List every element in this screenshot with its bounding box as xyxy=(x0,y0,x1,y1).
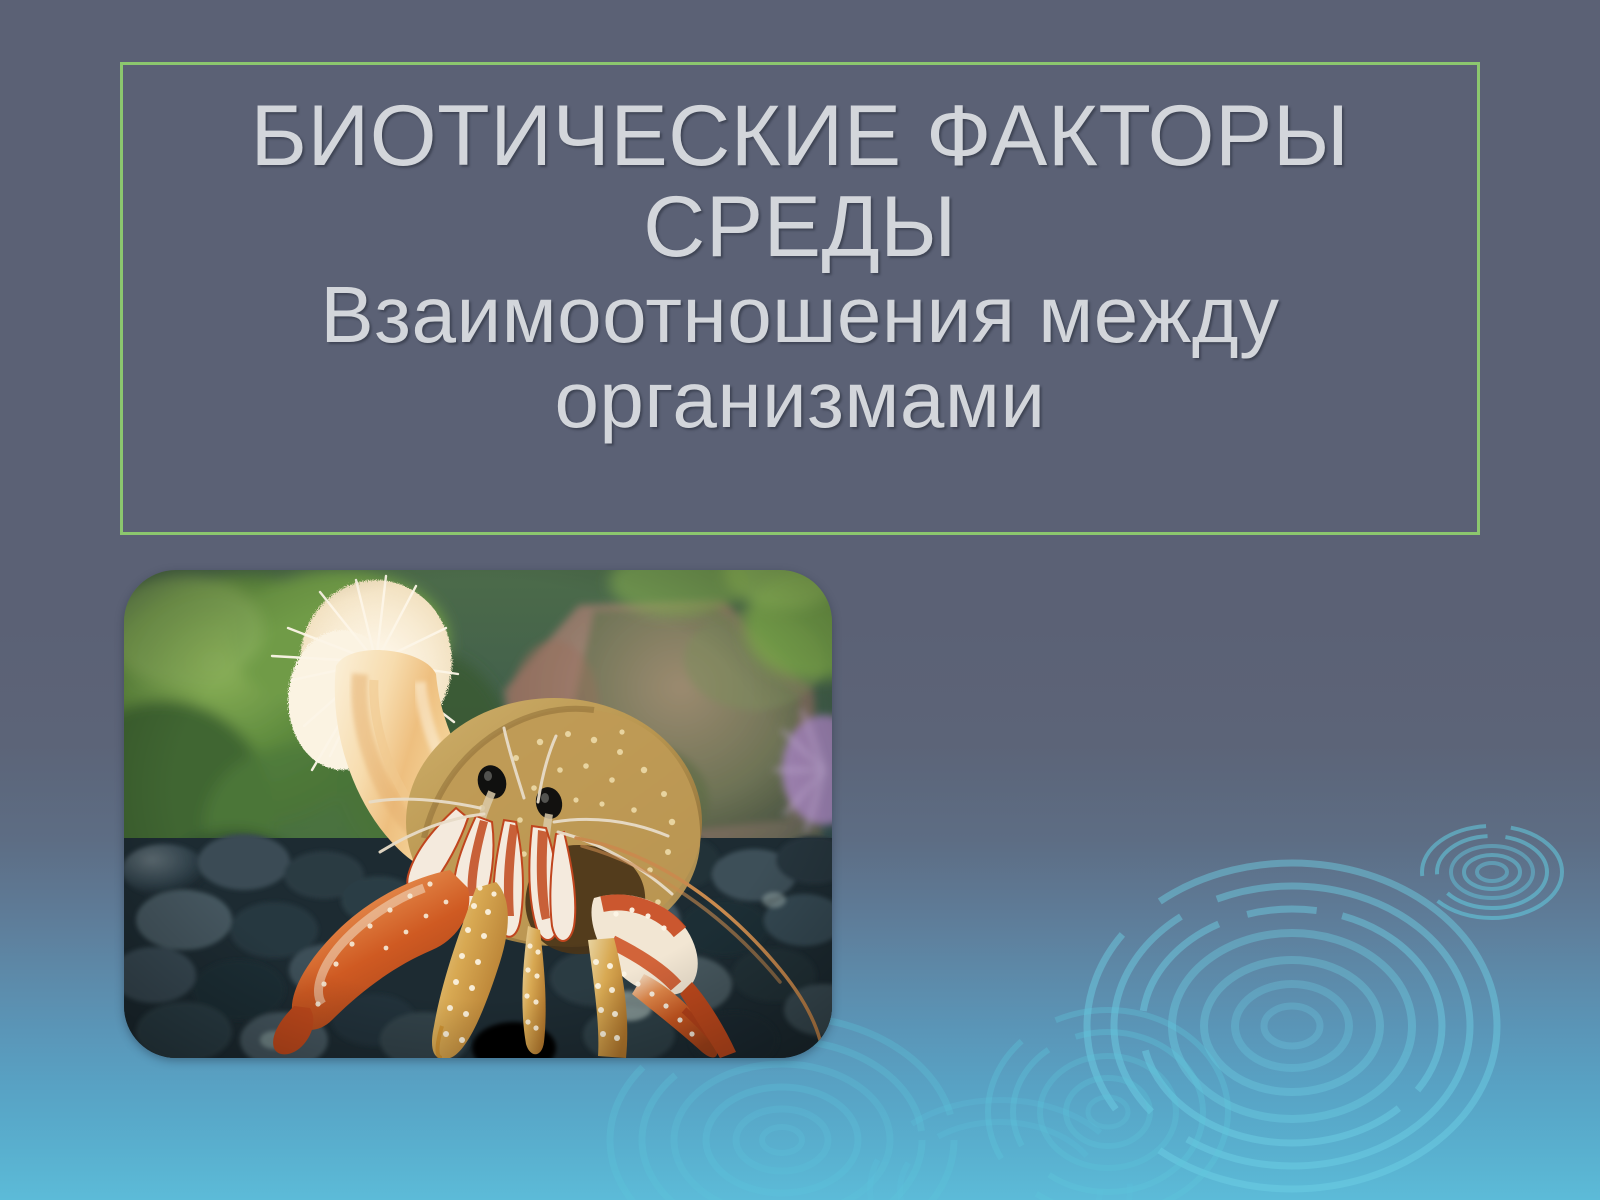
title-text-box: БИОТИЧЕСКИЕ ФАКТОРЫ СРЕДЫ Взаимоотношени… xyxy=(120,62,1480,535)
hermit-crab-illustration xyxy=(124,570,832,1058)
presentation-slide: БИОТИЧЕСКИЕ ФАКТОРЫ СРЕДЫ Взаимоотношени… xyxy=(0,0,1600,1200)
ripple-top-right xyxy=(1422,826,1562,918)
ripple-far-left xyxy=(870,1100,1130,1200)
ripple-mid xyxy=(988,1010,1228,1200)
subtitle-line-2: организмами xyxy=(554,358,1045,443)
ripple-main xyxy=(1087,863,1497,1189)
subtitle-line-1: Взаимоотношения между xyxy=(320,273,1279,358)
title-line-1: БИОТИЧЕСКИЕ ФАКТОРЫ xyxy=(251,91,1350,182)
title-line-2: СРЕДЫ xyxy=(643,182,957,273)
hermit-crab-photo xyxy=(124,570,832,1058)
